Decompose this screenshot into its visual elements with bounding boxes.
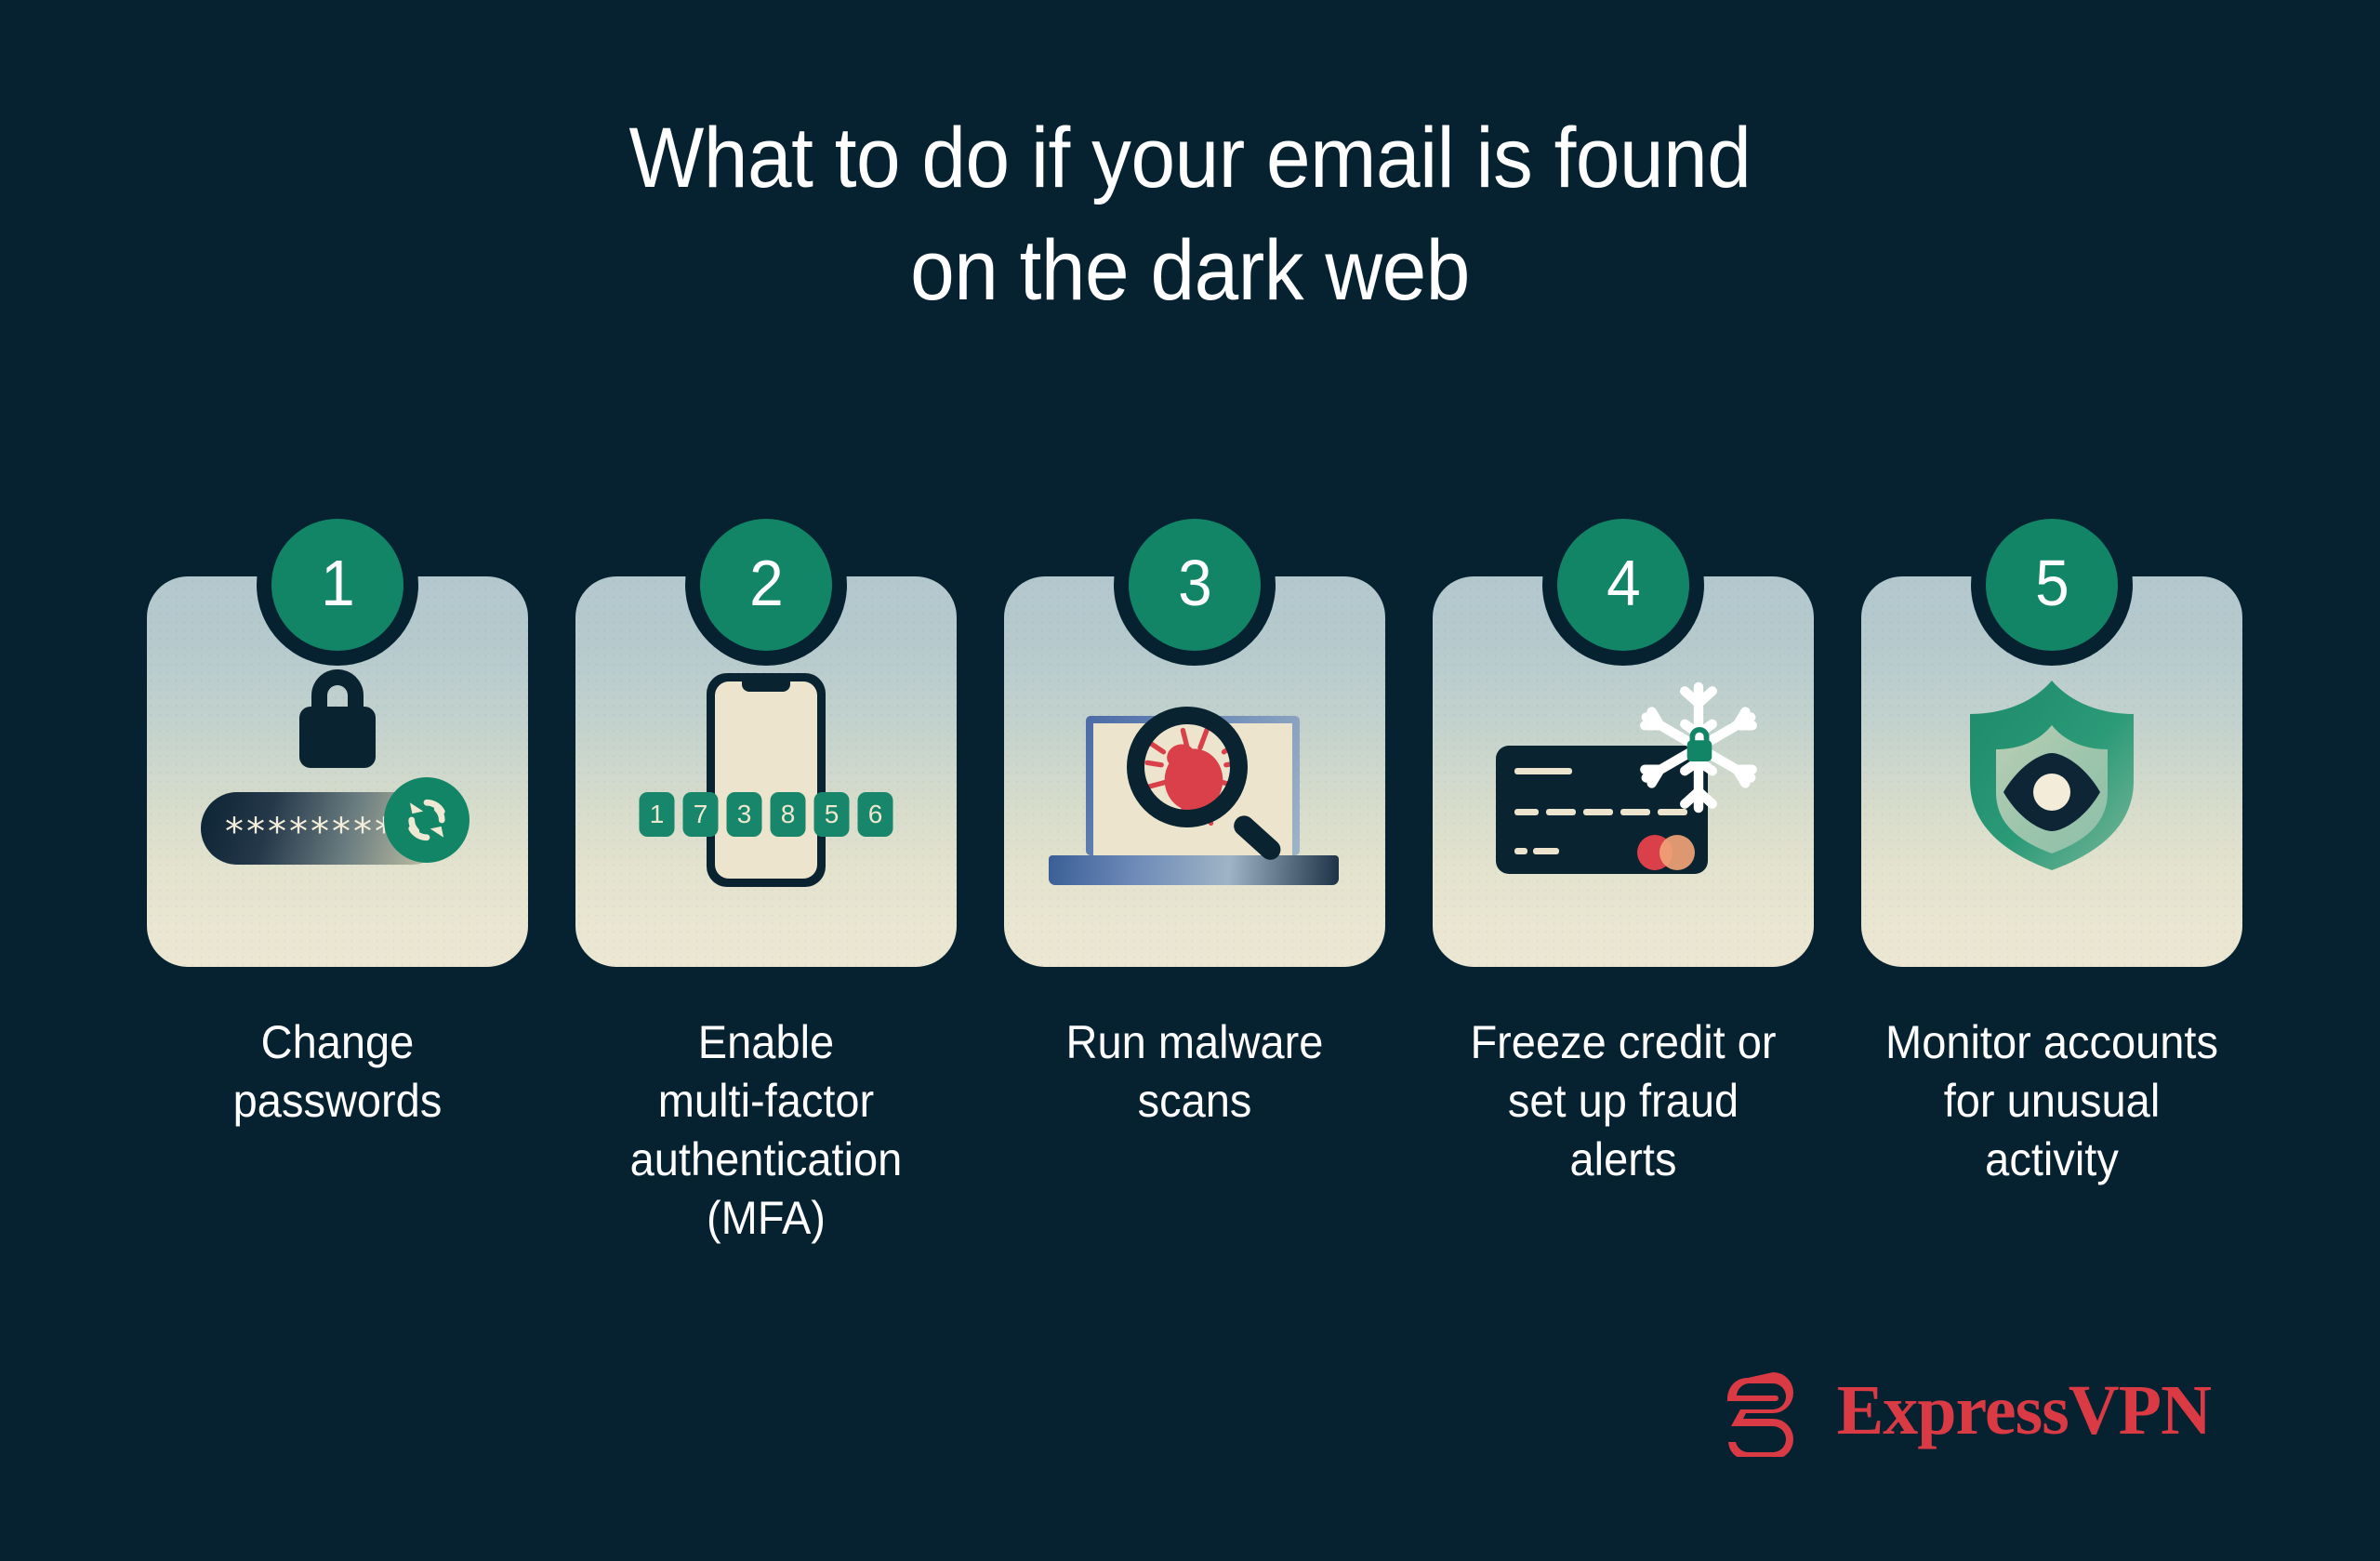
phone-notch bbox=[742, 681, 790, 692]
step-caption-4: Freeze credit or set up fraud alerts bbox=[1444, 1013, 1802, 1248]
steps-card-row: ********* 1 bbox=[147, 576, 2242, 967]
otp-digit: 8 bbox=[771, 792, 806, 837]
card-line bbox=[1514, 809, 1539, 815]
step-caption-5: Monitor accounts for unusual activity bbox=[1872, 1013, 2230, 1248]
step-caption-1: Change passwords bbox=[158, 1013, 516, 1248]
lock-icon bbox=[1682, 725, 1717, 764]
step-number-2: 2 bbox=[749, 550, 784, 615]
card-line bbox=[1533, 848, 1559, 854]
refresh-icon bbox=[384, 777, 469, 863]
step-card-4: 4 bbox=[1433, 576, 1814, 967]
expressvpn-logo: ExpressVPN bbox=[1720, 1364, 2211, 1457]
caption-line: for unusual bbox=[1872, 1072, 2230, 1131]
caption-line: scans bbox=[1015, 1072, 1373, 1131]
step-number-1: 1 bbox=[321, 550, 355, 615]
card-line bbox=[1583, 809, 1613, 815]
caption-line: authentication bbox=[587, 1131, 945, 1189]
step-badge-5: 5 bbox=[1986, 519, 2118, 651]
caption-line: Monitor accounts bbox=[1872, 1013, 2230, 1072]
caption-line: Run malware bbox=[1015, 1013, 1373, 1072]
laptop-base bbox=[1049, 855, 1339, 885]
caption-line: alerts bbox=[1444, 1131, 1802, 1189]
caption-line: activity bbox=[1872, 1131, 2230, 1189]
otp-digit: 3 bbox=[727, 792, 762, 837]
steps-caption-row: Change passwords Enable multi-factor aut… bbox=[147, 1013, 2242, 1248]
step-card-3: 3 bbox=[1004, 576, 1385, 967]
magnifier-lens-icon bbox=[1127, 707, 1248, 827]
step-number-3: 3 bbox=[1178, 550, 1212, 615]
caption-line: set up fraud bbox=[1444, 1072, 1802, 1131]
step-badge-1: 1 bbox=[271, 519, 403, 651]
step-number-5: 5 bbox=[2035, 550, 2069, 615]
caption-line: passwords bbox=[158, 1072, 516, 1131]
step-card-5: 5 bbox=[1861, 576, 2242, 967]
expressvpn-e-mark-icon bbox=[1720, 1364, 1813, 1457]
step-card-1: ********* 1 bbox=[147, 576, 528, 967]
otp-digit: 5 bbox=[814, 792, 850, 837]
otp-digit: 7 bbox=[683, 792, 719, 837]
caption-line: (MFA) bbox=[587, 1189, 945, 1248]
expressvpn-wordmark: ExpressVPN bbox=[1837, 1375, 2211, 1446]
otp-digit: 1 bbox=[640, 792, 675, 837]
otp-digit: 6 bbox=[858, 792, 893, 837]
infographic-canvas: What to do if your email is found on the… bbox=[0, 0, 2380, 1561]
page-title: What to do if your email is found on the… bbox=[84, 102, 2297, 328]
caption-line: Freeze credit or bbox=[1444, 1013, 1802, 1072]
step-card-2: 1 7 3 8 5 6 2 bbox=[575, 576, 957, 967]
step-number-4: 4 bbox=[1606, 550, 1641, 615]
title-line-2: on the dark web bbox=[84, 215, 2297, 327]
card-scheme-circle-orange bbox=[1659, 835, 1695, 870]
caption-line: Enable bbox=[587, 1013, 945, 1072]
caption-line: Change bbox=[158, 1013, 516, 1072]
card-line bbox=[1514, 848, 1527, 854]
shield-graphic bbox=[1959, 677, 2145, 874]
step-badge-3: 3 bbox=[1129, 519, 1261, 651]
step-caption-3: Run malware scans bbox=[1015, 1013, 1373, 1248]
card-line bbox=[1514, 768, 1572, 774]
caption-line: multi-factor bbox=[587, 1072, 945, 1131]
step-badge-2: 2 bbox=[700, 519, 832, 651]
otp-code-row: 1 7 3 8 5 6 bbox=[640, 792, 893, 837]
step-badge-4: 4 bbox=[1557, 519, 1689, 651]
smartphone-icon bbox=[707, 673, 826, 887]
card-line bbox=[1546, 809, 1576, 815]
phone-screen bbox=[715, 681, 817, 879]
step-caption-2: Enable multi-factor authentication (MFA) bbox=[587, 1013, 945, 1248]
padlock-body-icon bbox=[299, 707, 376, 768]
title-line-1: What to do if your email is found bbox=[84, 102, 2297, 215]
